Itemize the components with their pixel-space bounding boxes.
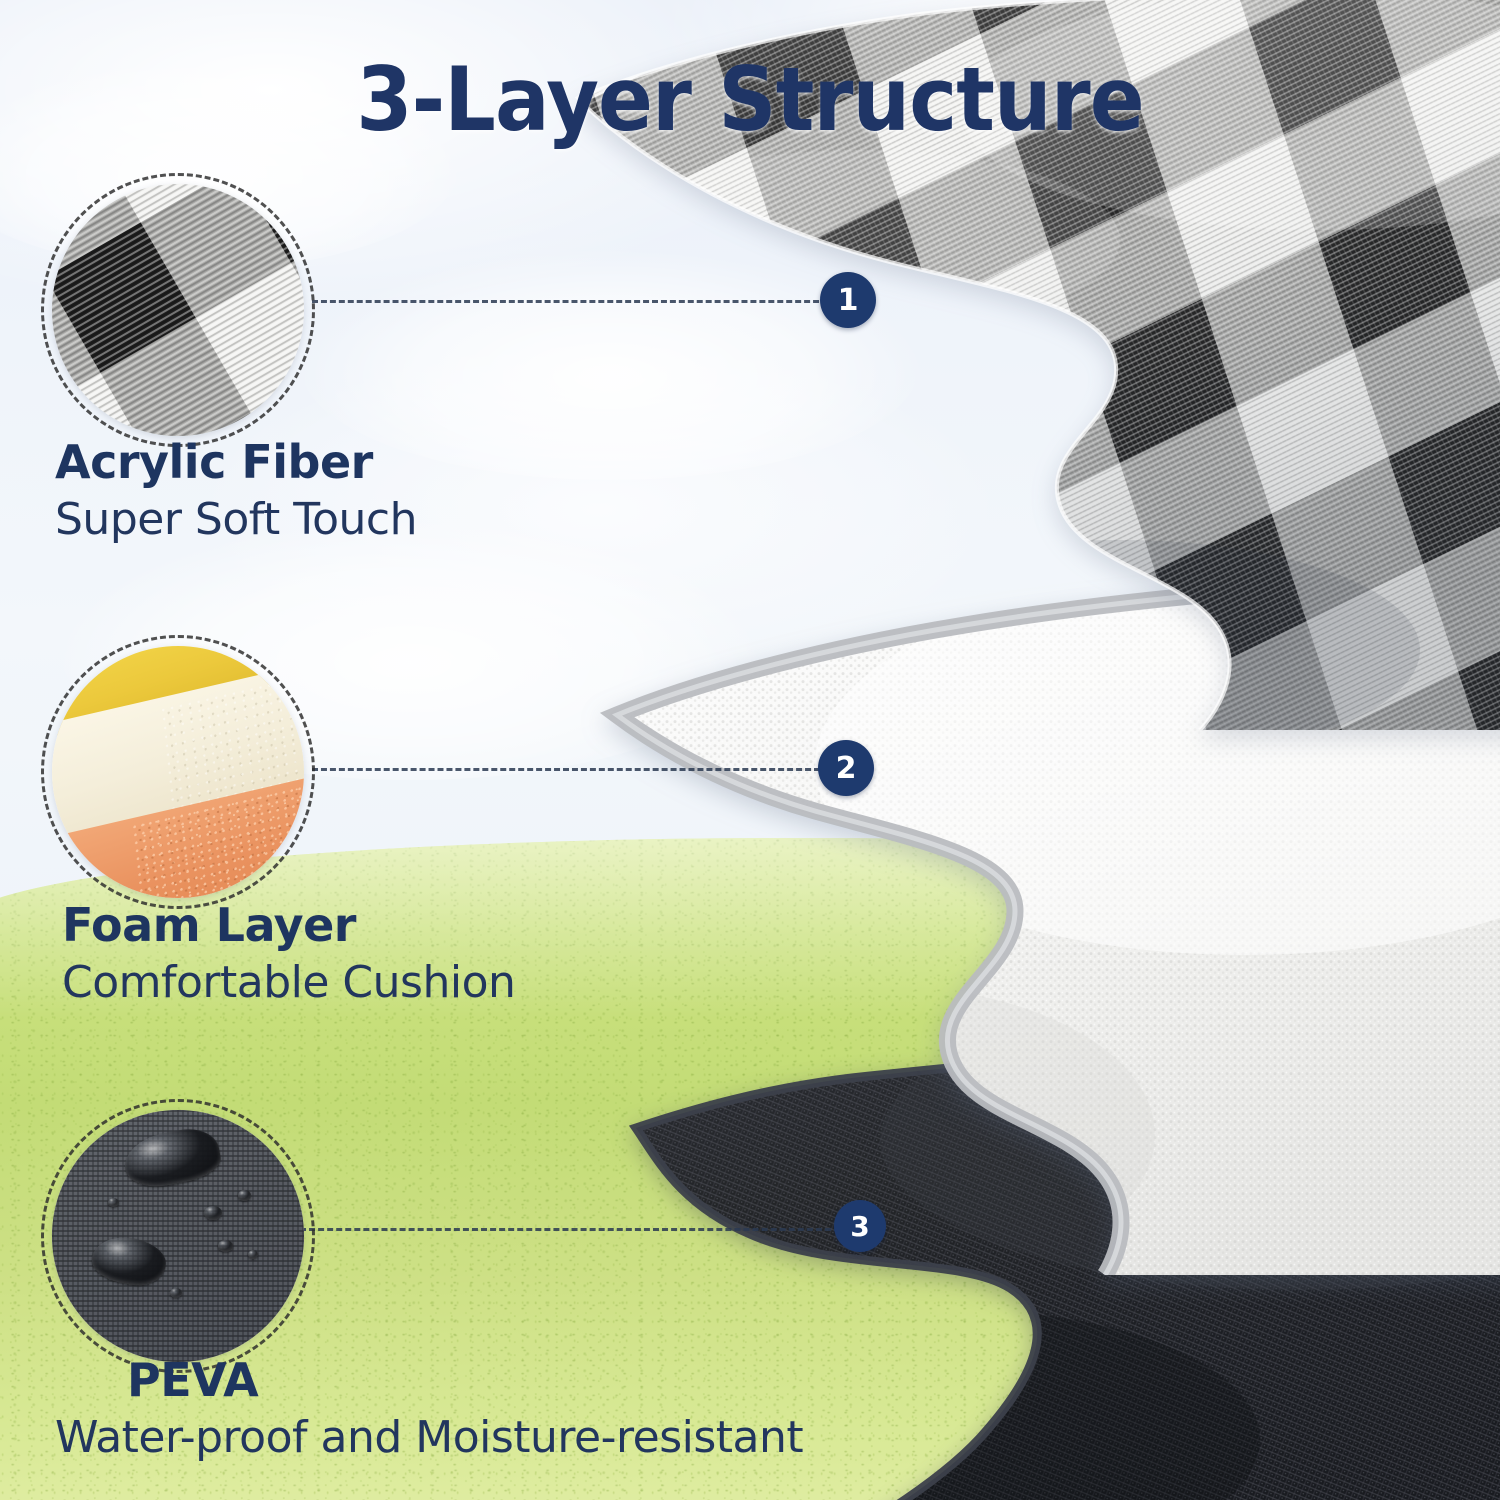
- layer-badge-1-number: 1: [838, 283, 859, 318]
- foam-stack-photo: [52, 646, 304, 898]
- layer-badge-2: 2: [818, 740, 874, 796]
- page-title: 3-Layer Structure: [60, 48, 1440, 151]
- layer-label-1-title: Acrylic Fiber: [55, 437, 417, 488]
- layer-label-3-subtitle: Water-proof and Moisture-resistant: [55, 1412, 803, 1464]
- connector-line-3: [300, 1228, 840, 1231]
- layer-badge-3: 3: [834, 1200, 886, 1252]
- peva-droplet-photo: [52, 1110, 304, 1362]
- foam-layer-closeup-inset: [52, 646, 304, 898]
- layer-label-1: Acrylic Fiber Super Soft Touch: [55, 437, 417, 546]
- layer-label-3: PEVA Water-proof and Moisture-resistant: [55, 1355, 803, 1464]
- infographic-canvas: 3-Layer Structure: [0, 0, 1500, 1500]
- layer-label-1-subtitle: Super Soft Touch: [55, 494, 417, 546]
- water-droplet-icon: [218, 1240, 233, 1252]
- layer-label-2: Foam Layer Comfortable Cushion: [62, 900, 515, 1009]
- layer-badge-1: 1: [820, 272, 876, 328]
- layer-label-2-title: Foam Layer: [62, 900, 515, 951]
- layer-label-3-title: PEVA: [127, 1355, 803, 1406]
- peva-closeup-inset: [52, 1110, 304, 1362]
- layer-badge-3-number: 3: [850, 1210, 869, 1243]
- buffalo-check-macro-icon: [52, 184, 304, 436]
- connector-line-2: [312, 768, 820, 771]
- check-fabric-photo: [52, 184, 304, 436]
- foam-block-stack-icon: [52, 646, 304, 898]
- acrylic-fiber-closeup-inset: [52, 184, 304, 436]
- water-droplet-icon: [204, 1206, 222, 1220]
- water-droplet-icon: [108, 1198, 119, 1207]
- water-droplet-icon: [238, 1190, 251, 1201]
- layer-label-2-subtitle: Comfortable Cushion: [62, 957, 515, 1009]
- connector-line-1: [312, 300, 828, 303]
- water-droplet-icon: [170, 1288, 182, 1298]
- layer-badge-2-number: 2: [836, 751, 857, 786]
- water-droplet-icon: [248, 1250, 258, 1259]
